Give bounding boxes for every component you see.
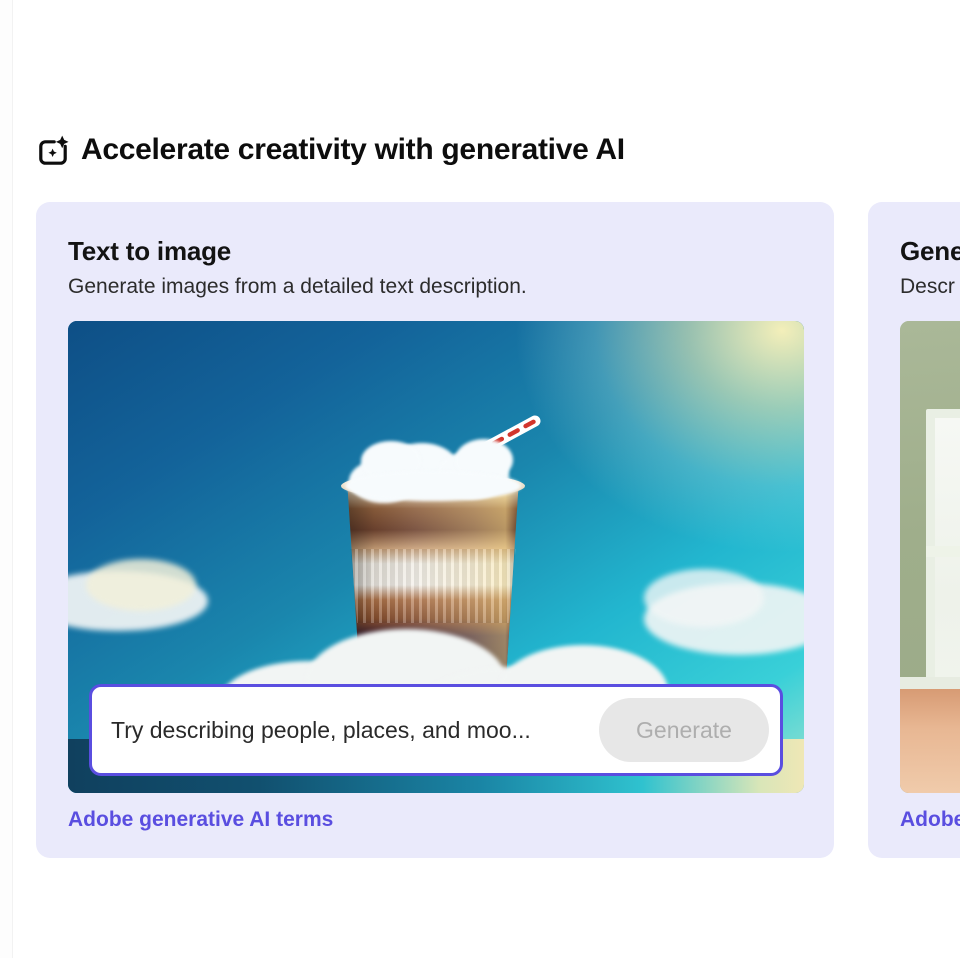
card-text-to-image[interactable]: Text to image Generate images from a det… (36, 202, 834, 858)
card-description: Descr (900, 275, 960, 299)
generative-ai-sparkle-icon (36, 134, 70, 168)
cloud-decoration (86, 559, 196, 611)
card-title: Text to image (68, 236, 802, 267)
preview-image-text-to-image: Generate (68, 321, 804, 793)
card-description: Generate images from a detailed text des… (68, 275, 802, 299)
room-floor (900, 689, 960, 793)
cloud-decoration (644, 569, 764, 627)
foam-top (345, 439, 521, 501)
adobe-generative-ai-terms-link[interactable]: Adobe (900, 808, 960, 832)
generate-button[interactable]: Generate (599, 698, 769, 762)
prompt-input[interactable] (111, 717, 589, 744)
preview-image-generative-fill (900, 321, 960, 793)
room-baseboard (900, 677, 960, 689)
cup-ridges (347, 549, 519, 623)
page-title: Accelerate creativity with generative AI (81, 133, 625, 167)
generative-ai-panel: Accelerate creativity with generative AI… (0, 0, 960, 958)
adobe-generative-ai-terms-link[interactable]: Adobe generative AI terms (68, 808, 333, 832)
card-title: Gene (900, 236, 960, 267)
feature-cards-row: Text to image Generate images from a det… (36, 202, 960, 858)
prompt-bar[interactable]: Generate (89, 684, 783, 776)
room-illustration (900, 321, 960, 793)
panel-left-edge (0, 0, 13, 958)
card-generative-fill[interactable]: Gene Descr Adobe (868, 202, 960, 858)
section-header: Accelerate creativity with generative AI (36, 128, 625, 172)
